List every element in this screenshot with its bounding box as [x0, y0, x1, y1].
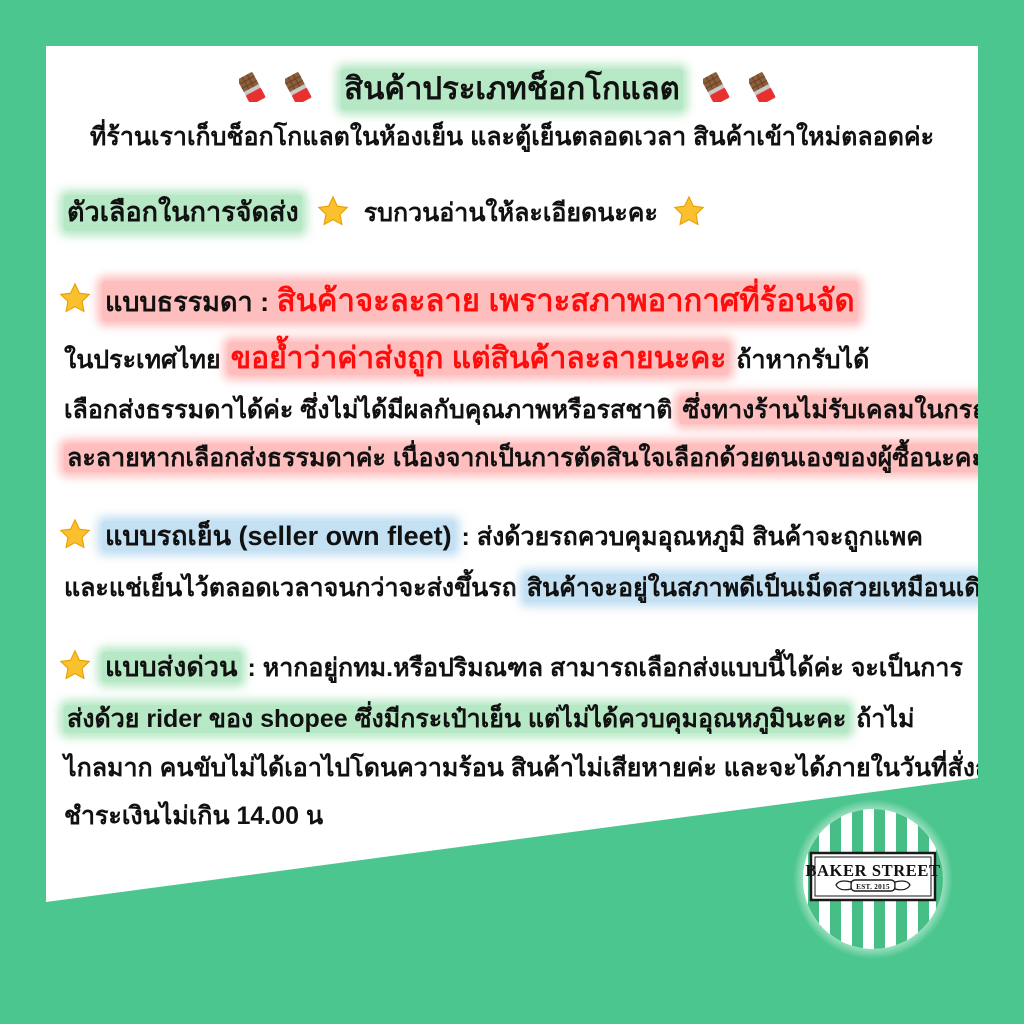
section-standard-line2: ในประเทศไทย ขอย้ำว่าค่าส่งถูก แต่สินค้าล…: [58, 339, 978, 378]
section-express-line2-green: ส่งด้วย rider ของ shopee ซึ่งมีกระเป๋าเย…: [64, 705, 849, 733]
section-cold-truck-line2: และแช่เย็นไว้ตลอดเวลาจนกว่าจะส่งขึ้นรถ ส…: [58, 572, 978, 605]
star-icon-cold-truck: [58, 517, 92, 556]
section-cold-truck-line2-before: และแช่เย็นไว้ตลอดเวลาจนกว่าจะส่งขึ้นรถ: [64, 574, 517, 602]
rolling-pin-icon: EST. 2015: [836, 880, 910, 891]
star-svg-express: [58, 648, 92, 682]
logo-svg: BAKER STREET EST. 2015: [790, 796, 956, 962]
section-express-line3: ไกลมาก คนขับไม่ได้เอาไปโดนความร้อน สินค้…: [58, 752, 978, 785]
star-svg-standard: [58, 281, 92, 315]
star-svg-2: [672, 194, 706, 228]
poster-content: สินค้าประเภทช็อกโกแลต: [46, 46, 978, 833]
chocolate-bar-icon-4: [749, 68, 785, 111]
section-cold-truck: แบบรถเย็น (seller own fleet) : ส่งด้วยรถ…: [46, 517, 978, 605]
star-svg-cold-truck: [58, 517, 92, 551]
chocolate-bar-svg: [239, 68, 275, 102]
section-cold-truck-line2-blue: สินค้าจะอยู่ในสภาพดีเป็นเม็ดสวยเหมือนเดิ…: [524, 574, 978, 602]
baker-street-logo: BAKER STREET EST. 2015: [790, 796, 956, 962]
section-express-colon: :: [247, 654, 255, 682]
section-standard-line4: ละลายหากเลือกส่งธรรมดาค่ะ เนื่องจากเป็นก…: [58, 442, 978, 475]
section-standard-title-wrap: แบบธรรมดา : สินค้าจะละลาย เพราะสภาพอากาศ…: [102, 281, 858, 321]
logo-established-text: EST. 2015: [856, 883, 890, 891]
section-express-title-row: แบบส่งด่วน : หากอยู่กทม.หรือปริมณฑล สามา…: [58, 648, 978, 687]
header-title-row: สินค้าประเภทช็อกโกแลต: [46, 68, 978, 111]
section-express-heading: แบบส่งด่วน : หากอยู่กทม.หรือปริมณฑล สามา…: [102, 650, 963, 685]
section-express-line2: ส่งด้วย rider ของ shopee ซึ่งมีกระเป๋าเย…: [58, 703, 978, 736]
section-standard-line1-red: สินค้าจะละลาย เพราะสภาพอากาศที่ร้อนจัด: [277, 283, 855, 318]
section-standard-title-row: แบบธรรมดา : สินค้าจะละลาย เพราะสภาพอากาศ…: [58, 281, 978, 321]
section-express-line2-after: ถ้าไม่: [856, 705, 914, 733]
section-standard-line2-after: ถ้าหากรับได้: [736, 346, 869, 374]
section-standard-line3-pink: ซึ่งทางร้านไม่รับเคลมในกรณี: [679, 396, 978, 424]
page-title: สินค้าประเภทช็อกโกแลต: [341, 69, 683, 109]
section-express-title: แบบส่งด่วน: [102, 652, 241, 682]
section-standard-title: แบบธรรมดา: [105, 287, 253, 317]
shipping-options-note: รบกวนอ่านให้ละเอียดนะคะ: [364, 197, 658, 230]
star-icon-2: [672, 194, 706, 233]
star-icon-standard: [58, 281, 92, 320]
section-cold-truck-line1: ส่งด้วยรถควบคุมอุณหภูมิ สินค้าจะถูกแพค: [477, 523, 923, 551]
chocolate-bar-svg-4: [749, 68, 785, 102]
section-standard-colon: :: [260, 287, 269, 317]
section-cold-truck-colon: :: [462, 523, 470, 551]
section-standard-line3: เลือกส่งธรรมดาได้ค่ะ ซึ่งไม่ได้มีผลกับคุ…: [58, 394, 978, 427]
section-standard-line3-before: เลือกส่งธรรมดาได้ค่ะ ซึ่งไม่ได้มีผลกับคุ…: [64, 396, 673, 424]
chocolate-bar-icon-2: [285, 68, 321, 111]
logo-brand-text: BAKER STREET: [805, 861, 940, 880]
section-cold-truck-heading: แบบรถเย็น (seller own fleet) : ส่งด้วยรถ…: [102, 519, 923, 554]
section-standard-line2-red: ขอย้ำว่าค่าส่งถูก แต่สินค้าละลายนะคะ: [228, 342, 730, 375]
chocolate-bar-svg-2: [285, 68, 321, 102]
shipping-options-header-row: ตัวเลือกในการจัดส่ง รบกวนอ่านให้ละเอียดน…: [46, 194, 978, 233]
section-express-line1: หากอยู่กทม.หรือปริมณฑล สามารถเลือกส่งแบบ…: [263, 654, 963, 682]
section-cold-truck-title: แบบรถเย็น (seller own fleet): [102, 521, 455, 551]
section-standard-line4-pink: ละลายหากเลือกส่งธรรมดาค่ะ เนื่องจากเป็นก…: [64, 444, 978, 472]
section-standard-line2-before: ในประเทศไทย: [64, 346, 221, 374]
chocolate-bar-svg-3: [703, 68, 739, 102]
chocolate-bar-icon: [239, 68, 275, 111]
star-icon-express: [58, 648, 92, 687]
section-standard: แบบธรรมดา : สินค้าจะละลาย เพราะสภาพอากาศ…: [46, 281, 978, 475]
poster-canvas: สินค้าประเภทช็อกโกแลต: [0, 0, 1024, 1024]
section-cold-truck-title-row: แบบรถเย็น (seller own fleet) : ส่งด้วยรถ…: [58, 517, 978, 556]
star-icon: [316, 194, 350, 233]
white-card: สินค้าประเภทช็อกโกแลต: [46, 46, 978, 978]
chocolate-bar-icon-3: [703, 68, 739, 111]
header-subtitle: ที่ร้านเราเก็บช็อกโกแลตในห้องเย็น และตู้…: [46, 121, 978, 154]
shipping-options-label: ตัวเลือกในการจัดส่ง: [64, 195, 302, 230]
star-svg: [316, 194, 350, 228]
